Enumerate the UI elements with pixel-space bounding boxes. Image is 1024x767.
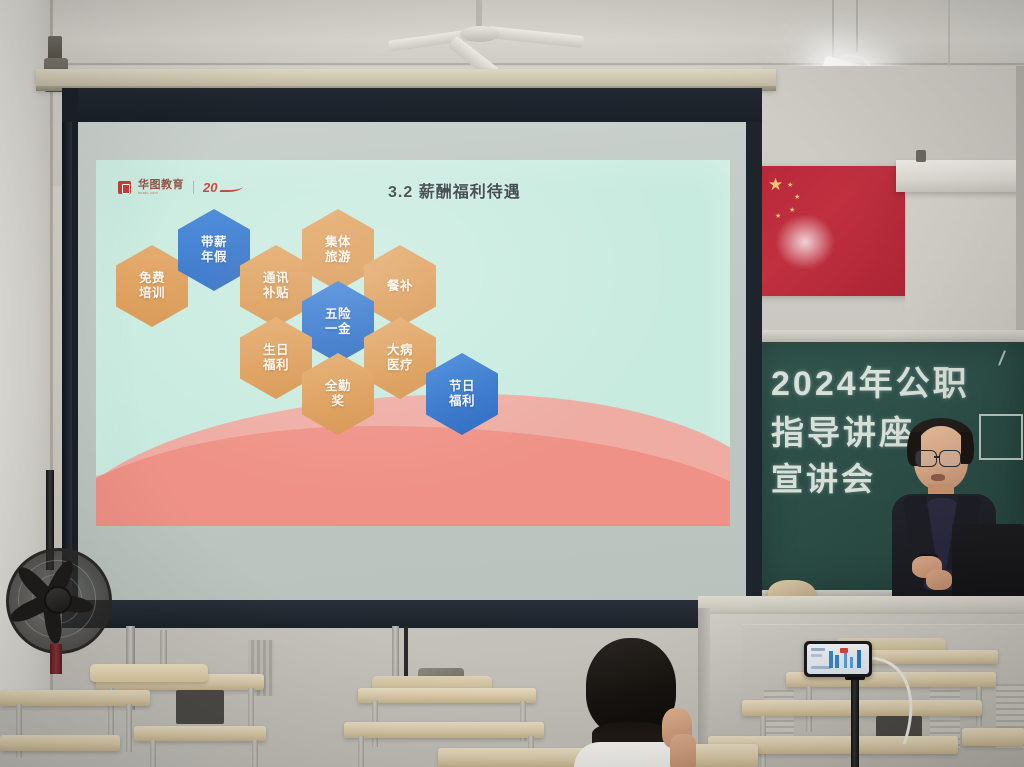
hexagon-benefit-8: 大病医疗 xyxy=(364,317,436,399)
hexagon-benefit-4: 集体旅游 xyxy=(302,209,374,291)
phone-ui-bar xyxy=(857,650,861,668)
desk-leg xyxy=(126,704,132,752)
glasses-icon xyxy=(915,450,937,467)
hexagon-benefit-3: 通讯补贴 xyxy=(240,245,312,327)
flag-star: ★ xyxy=(787,182,793,189)
hexagon-benefit-5: 餐补 xyxy=(364,245,436,327)
flag-glare xyxy=(775,214,835,270)
recording-phone[interactable] xyxy=(804,641,872,677)
flag-star: ★ xyxy=(794,194,800,201)
glasses-icon xyxy=(939,450,961,467)
phone-ui-bar xyxy=(850,657,853,668)
rolled-screen-mount xyxy=(916,150,926,162)
classroom-photo: ★ ★ ★ ★ ★ 2024年公职 指导讲座 宣讲会 xyxy=(0,0,1024,767)
rolled-screen-panel xyxy=(905,190,1024,342)
projection-screen-pole xyxy=(62,122,72,612)
hexagon-label: 带薪年假 xyxy=(201,235,227,265)
projection-screen-bottom-bar xyxy=(62,600,762,628)
student-desk xyxy=(0,735,120,751)
flag-star: ★ xyxy=(775,213,781,220)
student-desk xyxy=(358,688,536,703)
fan-stem xyxy=(50,644,62,674)
fan-blade xyxy=(487,26,584,48)
student-desk xyxy=(962,728,1024,746)
hexagon-benefit-6: 五险一金 xyxy=(302,281,374,363)
desk-part xyxy=(176,690,224,724)
light-wire xyxy=(856,0,858,52)
presenter-hair-side xyxy=(961,432,974,464)
hexagon-benefit-2: 带薪年假 xyxy=(178,209,250,291)
student-foreground xyxy=(566,630,706,767)
screen-support-leg xyxy=(392,626,399,682)
phone-ui-bar xyxy=(835,655,839,668)
phone-screen[interactable] xyxy=(807,644,869,674)
hexagon-label: 通讯补贴 xyxy=(263,271,289,301)
student-forearm xyxy=(670,734,696,767)
ceiling-fan-icon xyxy=(392,0,622,74)
hexagon-label: 生日福利 xyxy=(263,343,289,373)
hexagon-benefit-10: 节日福利 xyxy=(426,353,498,435)
tripod xyxy=(851,676,859,767)
hexagon-label: 大病医疗 xyxy=(387,343,413,373)
blackboard-line-3: 宣讲会 xyxy=(771,454,876,500)
student-desk xyxy=(344,722,544,738)
desk-leg xyxy=(150,740,156,767)
hexagon-label: 节日福利 xyxy=(449,379,475,409)
desk-leg xyxy=(358,736,364,767)
projection-screen-top-bar xyxy=(62,88,762,122)
flag-star: ★ xyxy=(789,207,795,214)
hexagon-label: 免费培训 xyxy=(139,271,165,301)
presentation-slide: 华图教育 huatu.com 20 3.2 薪酬福利待遇 免费培训带薪年假通讯补… xyxy=(96,160,730,526)
blackboard-line-1: 2024年公职 xyxy=(771,356,970,405)
glasses-bridge xyxy=(934,456,940,458)
podium-top xyxy=(698,596,1024,616)
blackboard-top-trim xyxy=(757,330,1024,342)
chinese-national-flag: ★ ★ ★ ★ ★ xyxy=(757,166,919,296)
hexagon-label: 集体旅游 xyxy=(325,235,351,265)
hexagon-benefit-1: 免费培训 xyxy=(116,245,188,327)
phone-ui-text xyxy=(811,648,825,651)
fan-hub xyxy=(460,26,500,42)
charging-cable xyxy=(860,650,970,750)
phone-ui-text xyxy=(811,654,822,657)
presenter-mouth xyxy=(931,474,945,481)
phone-ui-bar xyxy=(829,651,833,668)
phone-ui-bar xyxy=(844,653,847,668)
fan-hub xyxy=(44,586,72,614)
flag-star: ★ xyxy=(768,176,783,193)
hexagon-label: 全勤奖 xyxy=(325,379,351,409)
student-desk xyxy=(134,726,266,741)
hexagon-label: 餐补 xyxy=(387,279,413,294)
phone-ui-text xyxy=(811,666,831,669)
benefits-hexagon-diagram: 免费培训带薪年假通讯补贴集体旅游餐补五险一金生日福利大病医疗全勤奖节日福利 xyxy=(96,160,730,526)
hexagon-benefit-7: 生日福利 xyxy=(240,317,312,399)
desk-leg xyxy=(252,740,258,767)
hexagon-benefit-9: 全勤奖 xyxy=(302,353,374,435)
presenter-hand xyxy=(926,570,952,590)
chalk-mark xyxy=(998,350,1006,366)
chair-back xyxy=(90,664,208,682)
hexagon-label: 五险一金 xyxy=(325,307,351,337)
floor-fan xyxy=(6,548,114,674)
rolled-screen-case xyxy=(896,160,1024,192)
